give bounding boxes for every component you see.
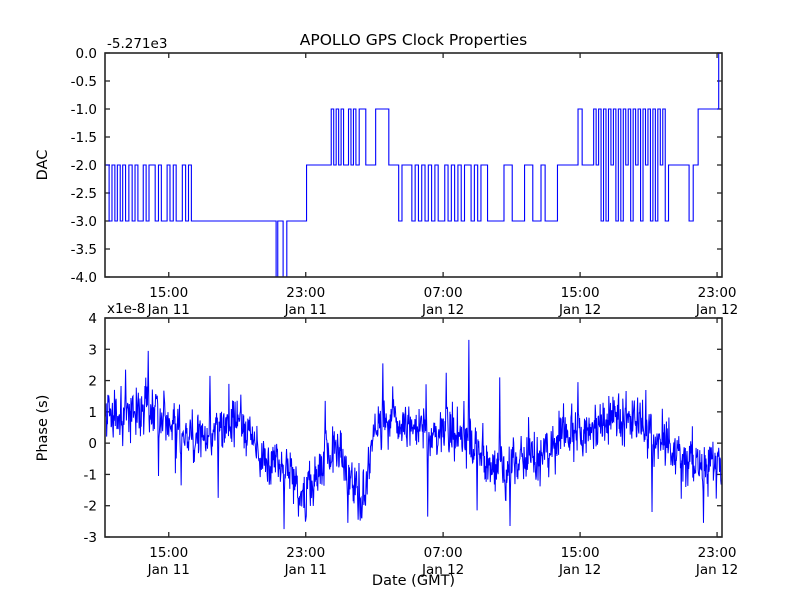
xtick-label: 15:00 bbox=[149, 545, 188, 561]
ytick-label: -3.5 bbox=[71, 242, 97, 258]
ytick-label: -1.0 bbox=[71, 102, 97, 118]
top-axes-offset-text: -5.271e3 bbox=[107, 36, 167, 52]
page-title: APOLLO GPS Clock Properties bbox=[300, 31, 528, 49]
xtick-label: Jan 12 bbox=[421, 302, 464, 318]
ytick-label: -1.5 bbox=[71, 130, 97, 146]
xtick-label: Jan 12 bbox=[558, 562, 601, 578]
ytick-label: 0 bbox=[88, 436, 97, 452]
xtick-label: Jan 12 bbox=[695, 302, 738, 318]
ytick-label: 3 bbox=[88, 342, 97, 358]
bottom-axes-ylabel: Phase (s) bbox=[35, 395, 51, 462]
xtick-label: Jan 12 bbox=[695, 562, 738, 578]
ytick-label: -0.5 bbox=[71, 74, 97, 90]
ytick-label: -1 bbox=[84, 467, 97, 483]
ytick-label: -2.0 bbox=[71, 158, 97, 174]
bottom-axes-xlabel: Date (GMT) bbox=[372, 573, 455, 589]
xtick-label: 07:00 bbox=[424, 285, 463, 301]
bottom-axes-multiplier-text: x1e-8 bbox=[107, 301, 145, 317]
ytick-label: -3 bbox=[84, 530, 97, 546]
xtick-label: Jan 11 bbox=[284, 302, 327, 318]
xtick-label: Jan 11 bbox=[147, 302, 190, 318]
ytick-label: -3.0 bbox=[71, 214, 97, 230]
xtick-label: 23:00 bbox=[698, 285, 737, 301]
xtick-label: Jan 12 bbox=[558, 302, 601, 318]
xtick-label: 15:00 bbox=[561, 545, 600, 561]
xtick-label: 15:00 bbox=[149, 285, 188, 301]
ytick-label: 2 bbox=[88, 374, 97, 390]
plot-canvas: 0.0-0.5-1.0-1.5-2.0-2.5-3.0-3.5-4.0 15:0… bbox=[0, 0, 800, 600]
top-axes-ytick-labels: 0.0-0.5-1.0-1.5-2.0-2.5-3.0-3.5-4.0 bbox=[71, 46, 97, 286]
xtick-label: 23:00 bbox=[286, 545, 325, 561]
top-axes-ylabel: DAC bbox=[35, 150, 51, 181]
xtick-label: 07:00 bbox=[424, 545, 463, 561]
matplotlib-figure: 0.0-0.5-1.0-1.5-2.0-2.5-3.0-3.5-4.0 15:0… bbox=[0, 0, 800, 600]
ytick-label: -2.5 bbox=[71, 186, 97, 202]
xtick-label: 23:00 bbox=[698, 545, 737, 561]
xtick-label: 15:00 bbox=[561, 285, 600, 301]
ytick-label: -2 bbox=[84, 499, 97, 515]
top-axes-background bbox=[105, 53, 722, 277]
xtick-label: Jan 11 bbox=[284, 562, 327, 578]
xtick-label: 23:00 bbox=[286, 285, 325, 301]
top-panel-dac: 0.0-0.5-1.0-1.5-2.0-2.5-3.0-3.5-4.0 15:0… bbox=[35, 31, 738, 318]
ytick-label: 0.0 bbox=[76, 46, 97, 62]
ytick-label: 4 bbox=[88, 311, 97, 327]
ytick-label: 1 bbox=[88, 405, 97, 421]
xtick-label: Jan 11 bbox=[147, 562, 190, 578]
ytick-label: -4.0 bbox=[71, 270, 97, 286]
